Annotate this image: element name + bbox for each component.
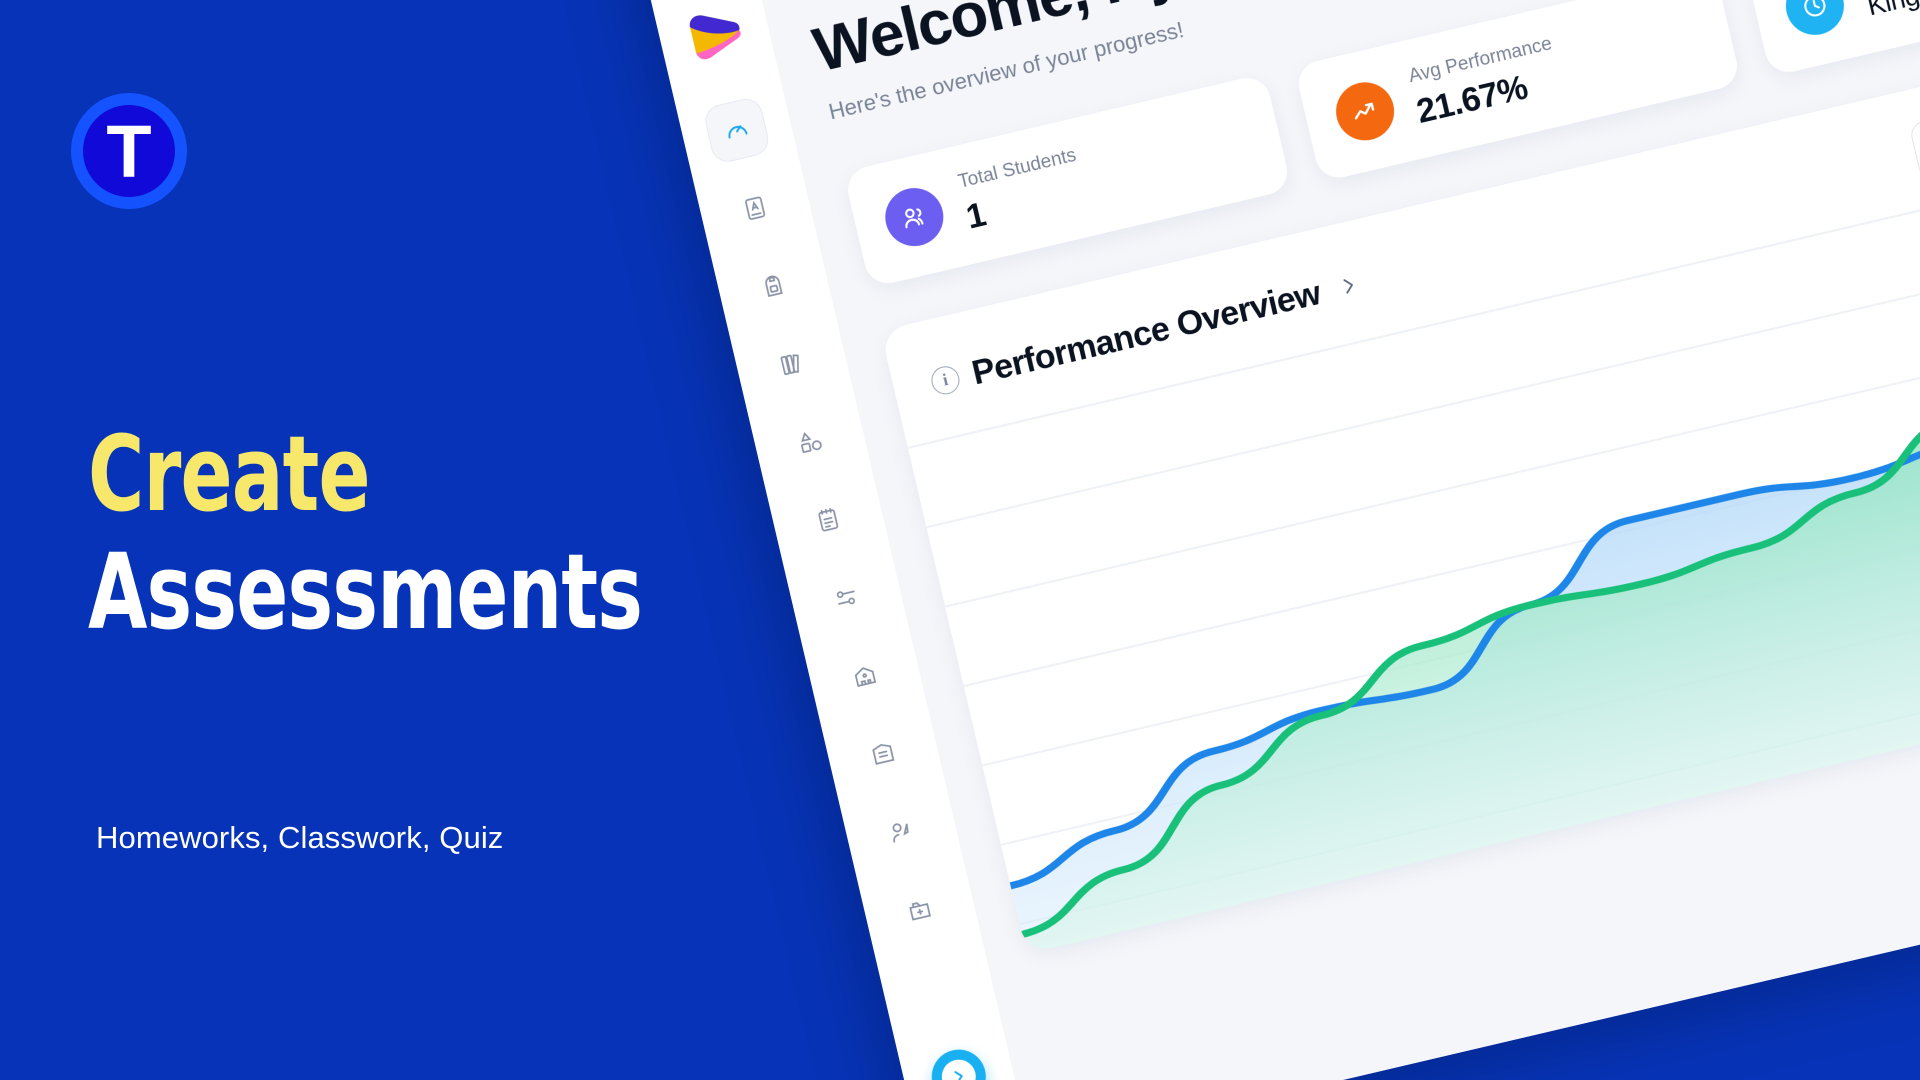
brand-logo-inner: T [83, 105, 175, 197]
sidebar-item-user-edit[interactable] [866, 796, 936, 866]
sidebar-item-library[interactable] [757, 329, 827, 399]
users-icon [879, 182, 949, 252]
headline-line-assessments: Assessments [88, 538, 613, 646]
brand-logo-letter: T [106, 115, 151, 189]
sidebar-item-archive[interactable] [848, 719, 918, 789]
stat-value: Kingsley Rodriguez [1864, 0, 1920, 22]
grid-dots-icon [798, 0, 824, 1]
clock-icon [1780, 0, 1850, 40]
dashboard-window: Quick Task Select Curriculum W [626, 0, 1920, 1080]
chevron-right-icon [938, 1056, 979, 1080]
headline-line-create: Create [88, 424, 613, 524]
sidebar-item-notes[interactable] [793, 485, 863, 555]
headline: Create Assessments [88, 424, 728, 646]
curriculum-select[interactable]: Select Curriculum [1909, 60, 1920, 181]
chevron-right-icon[interactable] [1335, 273, 1361, 299]
sidebar-item-settings[interactable] [812, 563, 882, 633]
sidebar-item-flashcards[interactable] [720, 173, 790, 243]
brand-mark-icon [679, 2, 751, 72]
sidebar-item-shapes[interactable] [775, 407, 845, 477]
brand-logo: T [71, 93, 187, 209]
stat-card-most-improved[interactable]: Most Improved Kingsley Rodriguez [1744, 0, 1920, 77]
dashboard-mockup: Quick Task Select Curriculum W [626, 0, 1920, 1080]
trending-up-icon [1330, 76, 1400, 146]
sidebar-item-dashboard[interactable] [702, 95, 772, 165]
sidebar-item-school[interactable] [830, 641, 900, 711]
sidebar-item-backpack[interactable] [739, 251, 809, 321]
info-icon[interactable]: i [929, 363, 963, 397]
sidebar-expand-button[interactable] [926, 1044, 991, 1080]
sidebar-item-files[interactable] [885, 874, 955, 944]
tagline: Homeworks, Classwork, Quiz [96, 820, 503, 856]
